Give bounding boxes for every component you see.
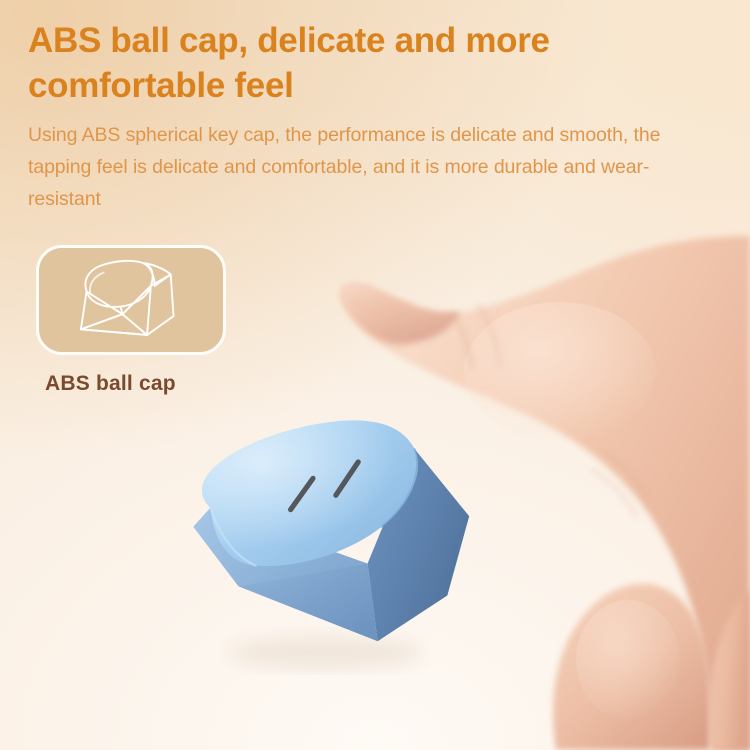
page-title: ABS ball cap, delicate and more comforta… — [28, 18, 700, 108]
blue-keycap — [176, 415, 506, 675]
keycap-wireframe-icon — [39, 248, 223, 352]
copy-block: ABS ball cap, delicate and more comforta… — [28, 18, 700, 215]
second-finger — [710, 590, 750, 750]
page-subcopy: Using ABS spherical key cap, the perform… — [28, 119, 688, 215]
thumb — [553, 584, 711, 750]
badge-label: ABS ball cap — [45, 372, 176, 396]
abs-ball-cap-badge — [36, 245, 226, 355]
product-feature-banner: ABS ball cap, delicate and more comforta… — [0, 0, 750, 750]
